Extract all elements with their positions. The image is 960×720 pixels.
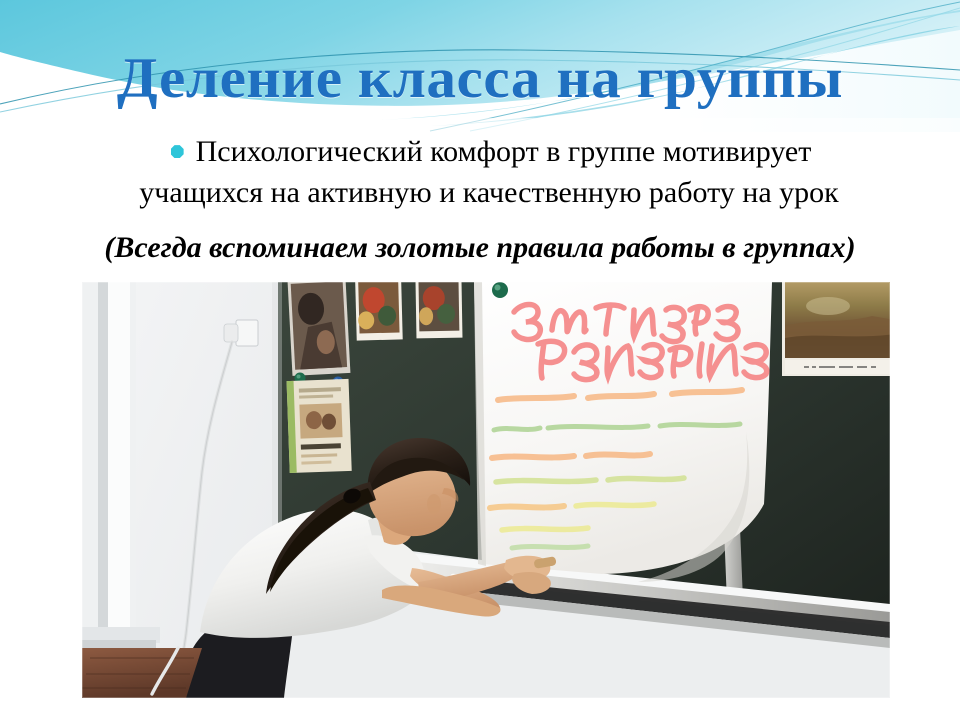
page-title: Деление класса на группы	[0, 47, 960, 111]
classroom-photo	[82, 282, 890, 698]
bullet-marker-icon	[171, 145, 184, 158]
bullet-line-2: учащихся на активную и качественную рабо…	[36, 172, 936, 213]
bullet-line-2-text: учащихся на активную и качественную рабо…	[139, 176, 839, 209]
subtitle-note: (Всегда вспоминаем золотые правила работ…	[0, 228, 960, 268]
body-text-block: Психологический комфорт в группе мотивир…	[36, 131, 936, 213]
slide: Деление класса на группы Психологический…	[0, 0, 960, 720]
bullet-line-1-text: Психологический комфорт в группе мотивир…	[196, 135, 812, 168]
bullet-line-1: Психологический комфорт в группе мотивир…	[36, 131, 936, 172]
